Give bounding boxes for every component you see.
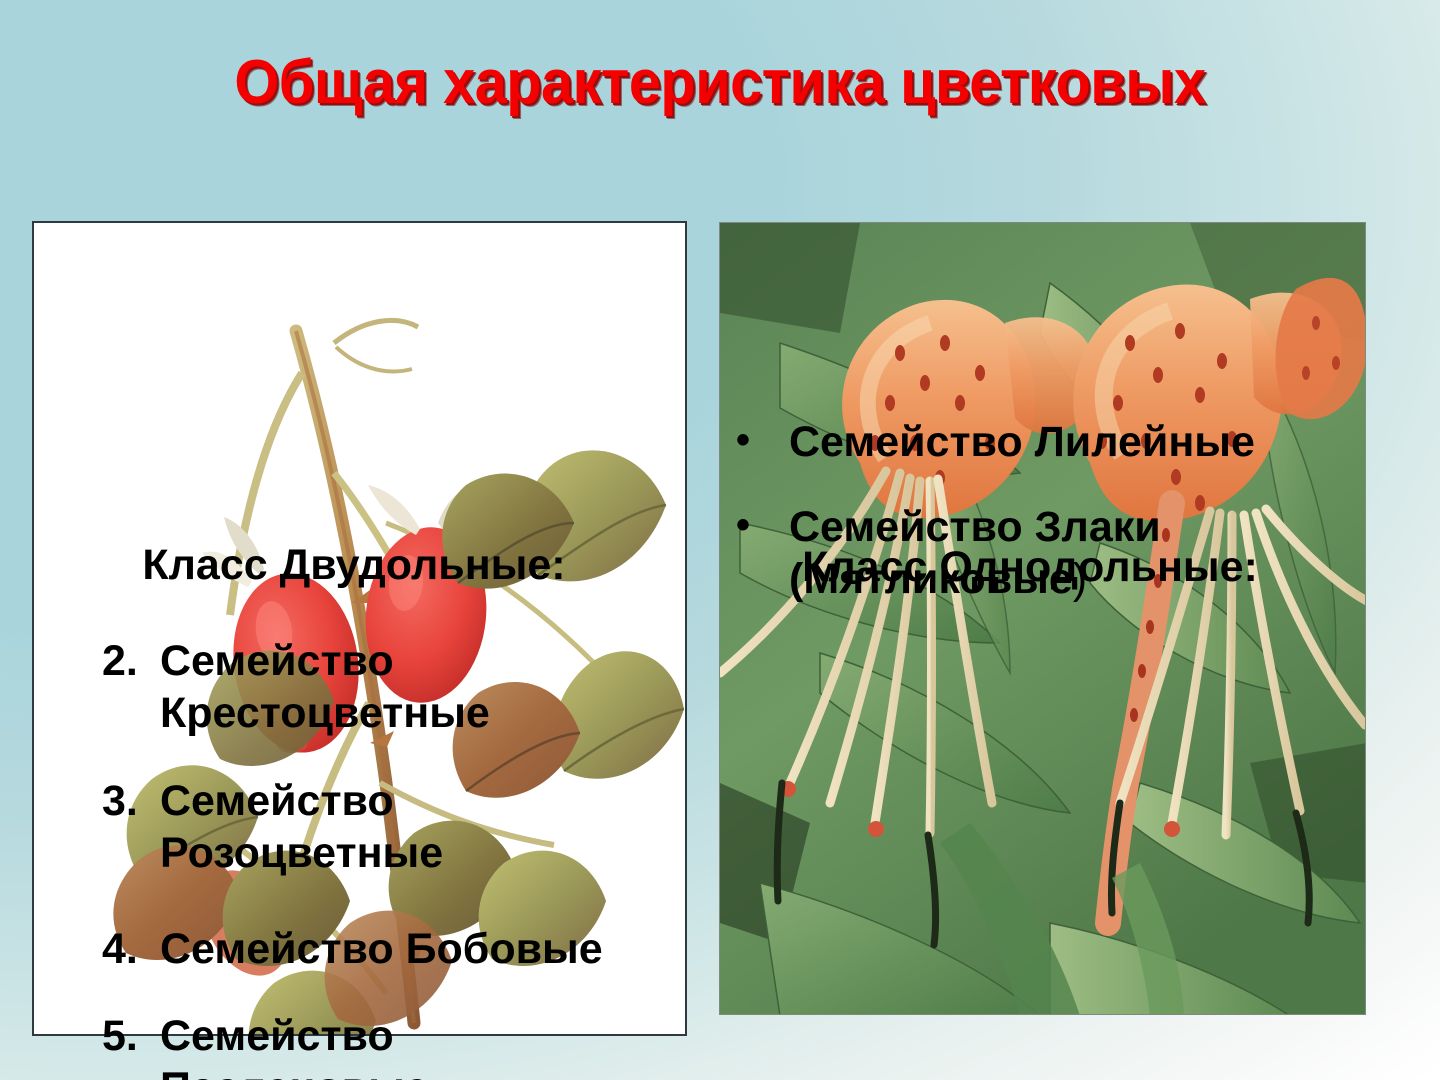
list-item-number: 3. [102, 775, 138, 827]
list-item-label: Семейство Розоцветные [160, 775, 662, 879]
list-item-label: Семейство Лилейные [789, 416, 1336, 468]
list-item: • Семейство Лилейные [736, 416, 1336, 468]
list-item-label: Семейство Бобовые [160, 923, 682, 975]
list-item-number: 5. [102, 1010, 138, 1062]
left-panel-text: Класс Двудольные: 2. Семейство Крестоцве… [34, 223, 689, 1080]
right-panel-text: Класс Однодольные: • Семейство Лилейные … [720, 223, 1366, 1015]
list-item-label: Семейство Пасленовые [160, 1010, 602, 1080]
slide-canvas: Общая характеристика цветковых [0, 0, 1440, 1080]
bullet-icon: • [736, 414, 750, 466]
left-panel-dicots: Класс Двудольные: 2. Семейство Крестоцве… [32, 221, 687, 1036]
list-item-label: Семейство Крестоцветные [160, 635, 662, 739]
closing-paren: ) [1073, 555, 1087, 603]
page-title: Общая характеристика цветковых [50, 52, 1389, 114]
list-item-number: 2. [102, 635, 138, 687]
bullet-icon: • [736, 499, 750, 551]
list-item: 5. Семейство Пасленовые [102, 1010, 602, 1080]
list-item-label-continued: (Мятликовые) [789, 553, 1336, 605]
left-panel-heading: Класс Двудольные: [34, 542, 674, 588]
list-item: • Семейство Злаки (Мятликовые) [736, 501, 1336, 605]
right-panel-monocots: Класс Однодольные: • Семейство Лилейные … [719, 222, 1366, 1015]
list-item: 2. Семейство Крестоцветные [102, 635, 662, 739]
list-item-label: Семейство Злаки [789, 501, 1336, 553]
list-item-label-line2: (Мятликовые [789, 555, 1073, 603]
list-item: 3. Семейство Розоцветные [102, 775, 662, 879]
list-item-number: 4. [102, 923, 138, 975]
list-item: 4. Семейство Бобовые [102, 923, 682, 975]
